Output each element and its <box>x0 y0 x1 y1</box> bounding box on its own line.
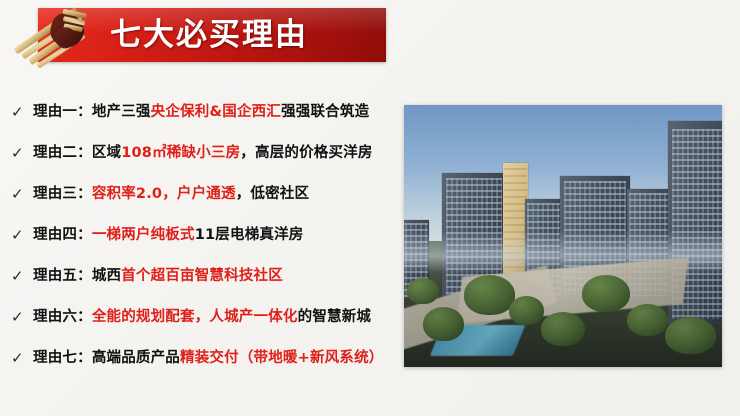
tree <box>407 278 439 304</box>
reason-label: 理由三： <box>33 186 92 202</box>
check-icon: ✓ <box>11 310 33 325</box>
check-icon: ✓ <box>11 105 33 120</box>
list-item: ✓ 理由一：地产三强央企保利&国企西汇强强联合筑造 <box>0 92 400 133</box>
residential-complex-rendering <box>404 105 722 367</box>
reason-segment: 区域 <box>92 145 121 161</box>
reason-segment: 的智慧新城 <box>298 309 372 325</box>
page-title: 七大必买理由 <box>110 8 308 62</box>
tree <box>541 312 586 346</box>
reason-segment: ，低密社区 <box>236 186 310 202</box>
reason-segment-highlight: 首个超百亩智慧科技社区 <box>121 268 283 284</box>
tree <box>464 275 515 314</box>
check-icon: ✓ <box>11 146 33 161</box>
tree <box>509 296 544 325</box>
reason-label: 理由四： <box>33 227 92 243</box>
reason-segment-highlight: 容积率2.0，户户通透 <box>92 186 236 202</box>
reason-text: 理由七：高端品质产品精装交付（带地暖+新风系统） <box>33 350 400 367</box>
tree <box>582 275 630 312</box>
check-icon: ✓ <box>11 228 33 243</box>
gold-scroll-ornament-icon <box>8 4 100 70</box>
reason-label: 理由二： <box>33 145 92 161</box>
list-item: ✓ 理由五：城西首个超百亩智慧科技社区 <box>0 256 400 297</box>
tree <box>665 317 716 354</box>
reason-segment: ，高层的价格买洋房 <box>240 145 372 161</box>
reason-segment: 11层电梯真洋房 <box>195 227 304 243</box>
tree <box>423 307 464 341</box>
list-item: ✓ 理由三：容积率2.0，户户通透，低密社区 <box>0 174 400 215</box>
reason-segment: 强强联合筑造 <box>281 104 369 120</box>
list-item: ✓ 理由二：区域108㎡稀缺小三房，高层的价格买洋房 <box>0 133 400 174</box>
list-item: ✓ 理由七：高端品质产品精装交付（带地暖+新风系统） <box>0 338 400 379</box>
reason-segment: 城西 <box>92 268 121 284</box>
check-icon: ✓ <box>11 269 33 284</box>
reason-text: 理由二：区域108㎡稀缺小三房，高层的价格买洋房 <box>33 145 400 162</box>
reason-text: 理由六：全能的规划配套，人城产一体化的智慧新城 <box>33 309 400 326</box>
reason-segment-highlight: 央企保利&国企西汇 <box>151 104 281 120</box>
reason-text: 理由一：地产三强央企保利&国企西汇强强联合筑造 <box>33 104 400 121</box>
check-icon: ✓ <box>11 351 33 366</box>
check-icon: ✓ <box>11 187 33 202</box>
tree <box>627 304 668 335</box>
reason-text: 理由五：城西首个超百亩智慧科技社区 <box>33 268 400 285</box>
reason-label: 理由七： <box>33 350 92 366</box>
list-item: ✓ 理由六：全能的规划配套，人城产一体化的智慧新城 <box>0 297 400 338</box>
reason-segment: 地产三强 <box>92 104 151 120</box>
reason-segment-highlight: 全能的规划配套，人城产一体化 <box>92 309 298 325</box>
reason-segment-highlight: 108㎡稀缺小三房 <box>121 145 240 161</box>
reason-label: 理由五： <box>33 268 92 284</box>
header: 七大必买理由 <box>38 8 386 62</box>
list-item: ✓ 理由四：一梯两户纯板式11层电梯真洋房 <box>0 215 400 256</box>
reason-text: 理由四：一梯两户纯板式11层电梯真洋房 <box>33 227 400 244</box>
slide-canvas: 七大必买理由 <box>0 0 740 416</box>
reason-segment: 高端品质产品 <box>92 350 180 366</box>
reason-label: 理由一： <box>33 104 92 120</box>
reason-text: 理由三：容积率2.0，户户通透，低密社区 <box>33 186 400 203</box>
reason-label: 理由六： <box>33 309 92 325</box>
reasons-list: ✓ 理由一：地产三强央企保利&国企西汇强强联合筑造 ✓ 理由二：区域108㎡稀缺… <box>0 92 400 379</box>
reason-segment-highlight: 一梯两户纯板式 <box>92 227 195 243</box>
reason-segment-highlight: 精装交付（带地暖+新风系统） <box>180 350 383 366</box>
